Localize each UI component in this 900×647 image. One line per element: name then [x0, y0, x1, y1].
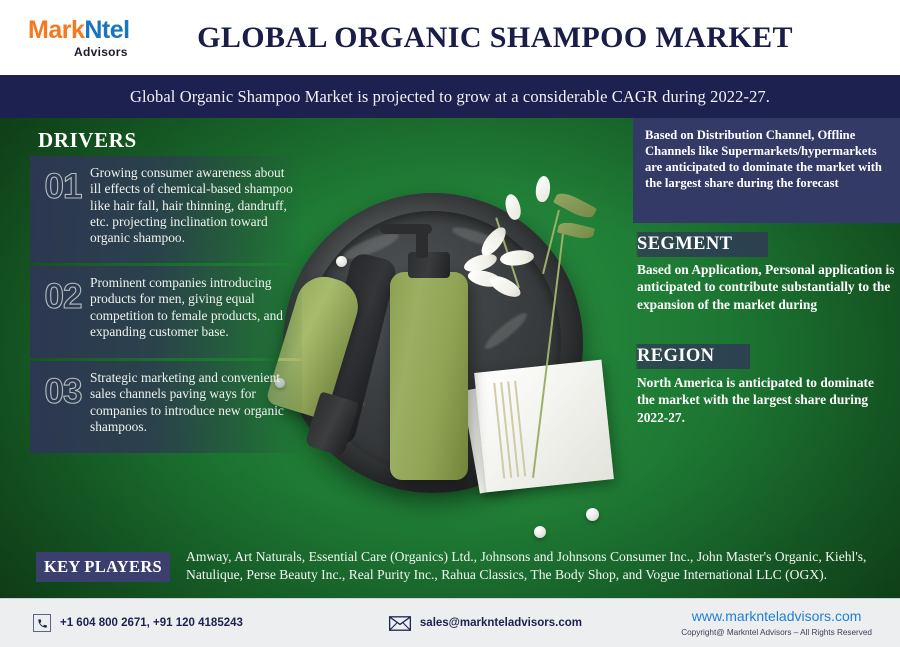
- footer-phone[interactable]: +1 604 800 2671, +91 120 4185243: [33, 614, 243, 632]
- driver-number-2: 02: [36, 273, 90, 314]
- shampoo-bottle: [390, 272, 468, 480]
- region-text: North America is anticipated to dominate…: [637, 374, 895, 426]
- footer-website-block[interactable]: www.marknteladvisors.com Copyright@ Mark…: [681, 608, 872, 638]
- subtitle-bar: Global Organic Shampoo Market is project…: [0, 75, 900, 118]
- key-players-badge: KEY PLAYERS: [36, 552, 170, 582]
- footer-email[interactable]: sales@marknteladvisors.com: [389, 616, 582, 631]
- footer-website-url[interactable]: www.marknteladvisors.com: [681, 608, 872, 626]
- drivers-heading: DRIVERS: [38, 128, 137, 153]
- body-area: DRIVERS 01 Growing consumer awareness ab…: [0, 118, 900, 598]
- pearl: [534, 526, 546, 538]
- driver-card-2: 02 Prominent companies introducing produ…: [30, 266, 302, 358]
- segment-heading-wrap: SEGMENT: [633, 232, 900, 257]
- segment-heading: SEGMENT: [633, 232, 768, 257]
- product-photo: [268, 168, 638, 568]
- region-heading-wrap: REGION: [633, 344, 900, 369]
- driver-text-1: Growing consumer awareness about ill eff…: [90, 163, 294, 247]
- footer: +1 604 800 2671, +91 120 4185243 sales@m…: [0, 598, 900, 647]
- logo-text-ntel: Ntel: [84, 16, 129, 44]
- driver-card-1: 01 Growing consumer awareness about ill …: [30, 156, 302, 263]
- bottle-neck: [408, 252, 450, 278]
- footer-phone-text: +1 604 800 2671, +91 120 4185243: [60, 617, 243, 629]
- key-players-row: KEY PLAYERS Amway, Art Naturals, Essenti…: [0, 546, 900, 598]
- page-title: GLOBAL ORGANIC SHAMPOO MARKET: [160, 21, 900, 55]
- distribution-channel-panel: Based on Distribution Channel, Offline C…: [633, 118, 900, 223]
- bottle-nozzle: [380, 224, 432, 234]
- subtitle-text: Global Organic Shampoo Market is project…: [130, 87, 770, 107]
- region-heading: REGION: [633, 344, 750, 369]
- header: MarkNtel Advisors GLOBAL ORGANIC SHAMPOO…: [0, 0, 900, 75]
- infographic-root: MarkNtel Advisors GLOBAL ORGANIC SHAMPOO…: [0, 0, 900, 647]
- footer-copyright: Copyright@ Markntel Advisors – All Right…: [681, 628, 872, 638]
- pearl: [586, 508, 599, 521]
- driver-number-1: 01: [36, 163, 90, 204]
- driver-card-3: 03 Strategic marketing and convenient sa…: [30, 361, 302, 453]
- key-players-text: Amway, Art Naturals, Essential Care (Org…: [186, 548, 886, 584]
- driver-text-2: Prominent companies introducing products…: [90, 273, 294, 340]
- driver-text-3: Strategic marketing and convenient sales…: [90, 368, 294, 435]
- envelope-icon: [389, 616, 411, 631]
- phone-icon: [33, 614, 51, 632]
- segment-text: Based on Application, Personal applicati…: [637, 261, 895, 313]
- distribution-channel-text: Based on Distribution Channel, Offline C…: [645, 128, 888, 191]
- logo-wordmark: MarkNtel: [28, 18, 160, 43]
- driver-number-3: 03: [36, 368, 90, 409]
- footer-email-text: sales@marknteladvisors.com: [420, 617, 582, 629]
- company-logo: MarkNtel Advisors: [0, 18, 160, 58]
- logo-text-mark: Mark: [28, 16, 84, 44]
- logo-tagline: Advisors: [74, 46, 160, 58]
- pearl: [336, 256, 347, 267]
